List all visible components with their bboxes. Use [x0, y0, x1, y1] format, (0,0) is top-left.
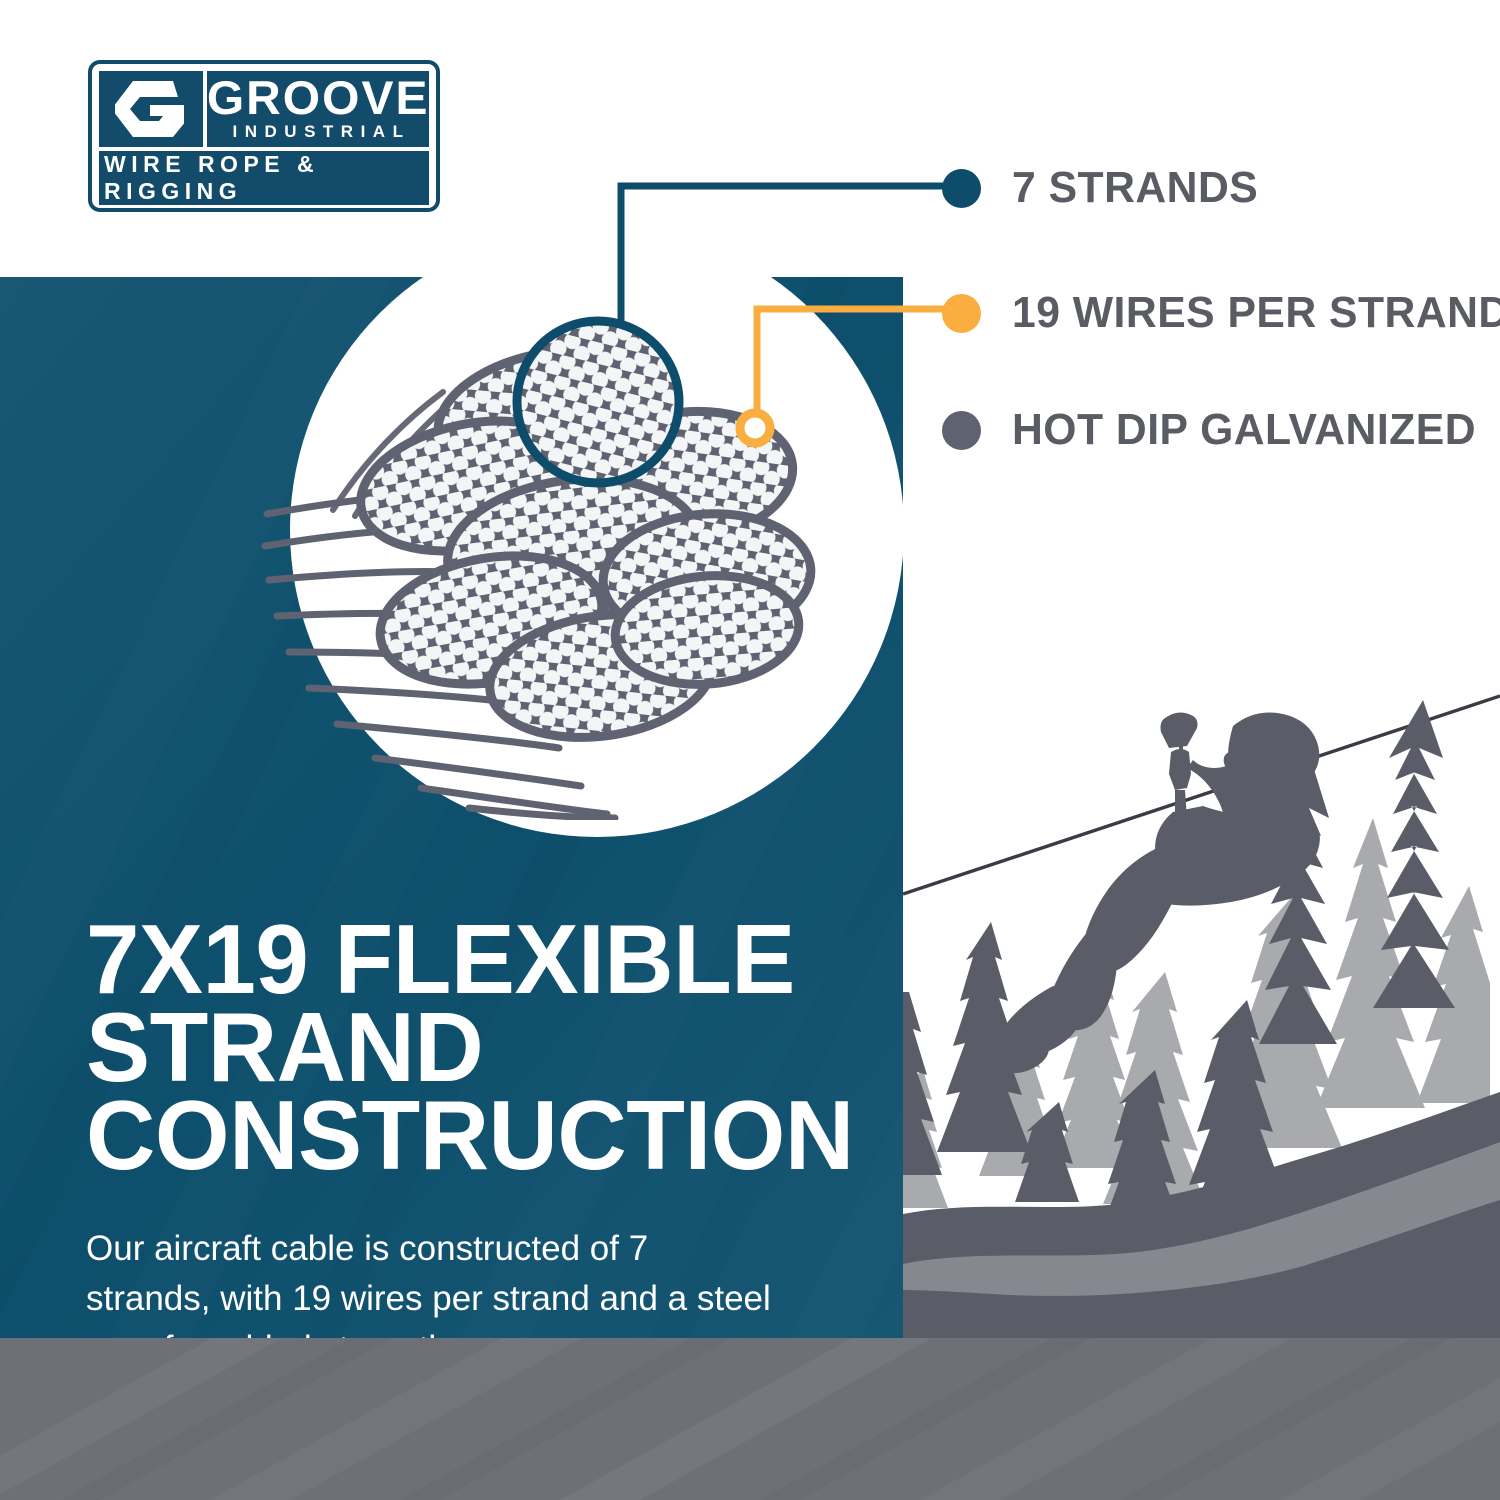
callout-label-wires: 19 WIRES PER STRAND: [1012, 288, 1500, 338]
gray-dot-icon: [942, 411, 981, 450]
infographic-canvas: GROOVE INDUSTRIAL WIRE ROPE & RIGGING: [0, 0, 1500, 1500]
orange-dot-icon: [942, 294, 981, 333]
cable-cross-section-illustration: [255, 300, 855, 820]
callout-galvanized: HOT DIP GALVANIZED: [942, 405, 1490, 455]
zipline-forest-scene: [903, 600, 1500, 1340]
brand-logo: GROOVE INDUSTRIAL WIRE ROPE & RIGGING: [88, 60, 440, 212]
brand-tagline: WIRE ROPE & RIGGING: [99, 151, 429, 205]
callout-label-strands: 7 STRANDS: [1012, 163, 1258, 213]
callout-label-galvanized: HOT DIP GALVANIZED: [1012, 405, 1476, 455]
callout-wires: 19 WIRES PER STRAND: [942, 288, 1500, 338]
orange-endpoint-ring: [740, 413, 770, 443]
navy-dot-icon: [942, 169, 981, 208]
groove-g-mark-icon: [99, 71, 203, 147]
brand-subname: INDUSTRIAL: [226, 122, 411, 142]
headline-block: 7X19 FLEXIBLE STRAND CONSTRUCTION Our ai…: [86, 915, 876, 1374]
bottom-gray-band: [0, 1338, 1500, 1500]
headline-line-2: STRAND CONSTRUCTION: [86, 992, 854, 1190]
callout-strands: 7 STRANDS: [942, 163, 1266, 213]
brand-name: GROOVE: [207, 76, 430, 119]
